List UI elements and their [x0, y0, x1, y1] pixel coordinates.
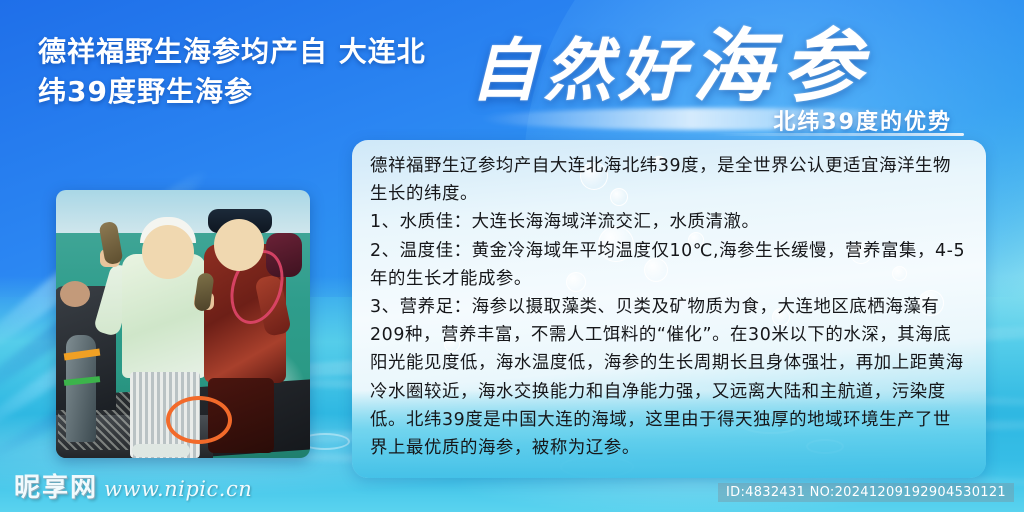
photo-orange-hose	[166, 396, 232, 444]
photo-person1-shoes	[132, 444, 190, 457]
watermark-site-name: 昵享网	[14, 467, 98, 504]
panel-body-text: 德祥福野生辽参均产自大连北海北纬39度，是全世界公认更适宜海洋生物生长的纬度。 …	[370, 152, 968, 462]
text-panel: 德祥福野生辽参均产自大连北海北纬39度，是全世界公认更适宜海洋生物生长的纬度。 …	[352, 140, 986, 478]
big-title-main: 自然好	[470, 31, 692, 111]
photo-crew-head	[60, 281, 90, 307]
photo-person1-blurred-face	[142, 225, 194, 279]
photo-divers	[56, 190, 310, 458]
watermark-id-text: ID:4832431 NO:20241209192904530121	[718, 483, 1014, 502]
subtitle-underline	[714, 133, 964, 136]
watermark-site-url: www.nipic.cn	[104, 477, 252, 501]
watermark-nipic: 昵享网 www.nipic.cn	[14, 467, 252, 504]
headline-text: 德祥福野生海参均产自 大连北纬39度野生海参	[38, 32, 438, 112]
poster-canvas: 德祥福野生海参均产自 大连北纬39度野生海参 自然好海参 北纬39度的优势	[0, 0, 1024, 512]
big-title: 自然好海参	[470, 22, 990, 112]
subtitle-text: 北纬39度的优势	[773, 104, 952, 136]
big-title-tail: 海参	[692, 19, 872, 113]
